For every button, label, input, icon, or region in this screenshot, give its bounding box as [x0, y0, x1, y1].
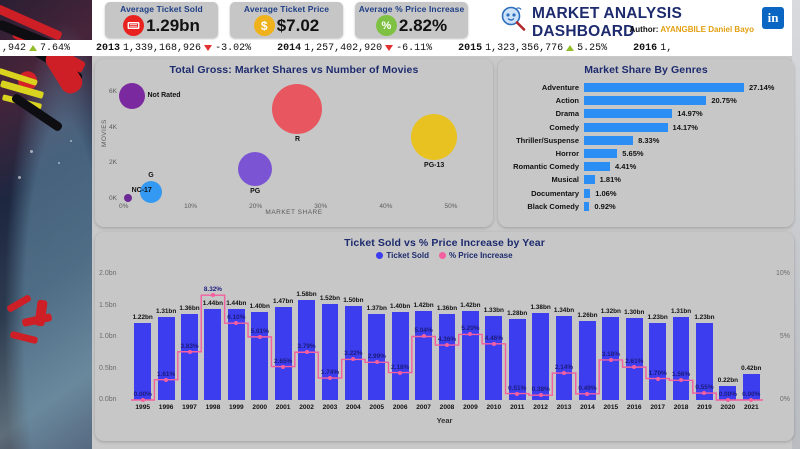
kpi-title: Average % Price Increase — [355, 4, 468, 14]
year-bar-value-label: 1.22bn — [133, 314, 153, 321]
kpi-title: Average Ticket Sold — [105, 4, 218, 14]
ticker-value: 1, — [660, 43, 672, 54]
ticker-value: 1,257,402,920 — [304, 43, 382, 54]
price-increase-value-label: 8.32% — [204, 286, 222, 293]
genre-bar[interactable] — [584, 136, 633, 145]
price-increase-point[interactable] — [492, 342, 496, 346]
genre-label: Comedy — [498, 123, 584, 132]
genre-row[interactable]: Horror5.65% — [498, 147, 794, 160]
panel-market-share-by-genres: Market Share By Genres Adventure27.14%Ac… — [498, 59, 794, 227]
price-increase-point[interactable] — [281, 365, 285, 369]
ticker-year: 2015 — [458, 43, 482, 54]
year-bar[interactable] — [649, 323, 666, 400]
ticker-item: ,9427.64% — [2, 43, 70, 54]
price-increase-value-label: 0.55% — [695, 384, 713, 391]
year-x-tick: 2006 — [393, 404, 408, 411]
ticker-change: 5.25% — [577, 43, 607, 54]
genre-value: 4.41% — [610, 162, 636, 171]
year-x-tick: 1998 — [206, 404, 221, 411]
bubble-point[interactable] — [411, 114, 457, 160]
genre-value: 5.65% — [617, 149, 643, 158]
year-x-tick: 2007 — [416, 404, 431, 411]
genre-row[interactable]: Drama14.97% — [498, 107, 794, 120]
year-chart-plot-area[interactable]: 0.0bn0.5bn1.0bn1.5bn2.0bn0%5%10%1.22bn19… — [95, 232, 794, 441]
price-increase-value-label: 3.18% — [602, 351, 620, 358]
page-title: MARKET ANALYSIS DASHBOARD — [532, 5, 788, 41]
genre-row[interactable]: Documentary1.06% — [498, 187, 794, 200]
price-increase-point[interactable] — [468, 332, 472, 336]
genre-value: 14.17% — [668, 123, 698, 132]
price-increase-point[interactable] — [305, 350, 309, 354]
year-bar-value-label: 1.40bn — [250, 303, 270, 310]
genre-bar[interactable] — [584, 149, 617, 158]
year-bar-value-label: 1.31bn — [671, 308, 691, 315]
trend-up-icon — [566, 45, 574, 51]
bubble-point[interactable] — [272, 84, 322, 134]
bubble-x-tick: 20% — [249, 203, 262, 210]
kpi-card-average-percent-price-increase[interactable]: Average % Price Increase % 2.82% — [355, 2, 468, 38]
year-bar[interactable] — [275, 307, 292, 400]
year-bar-value-label: 1.26bn — [577, 312, 597, 319]
year-x-tick: 2005 — [369, 404, 384, 411]
ticker-value: 1,323,356,776 — [485, 43, 563, 54]
year-y-tick-right: 0% — [780, 396, 790, 403]
year-bar-value-label: 1.44bn — [203, 300, 223, 307]
year-bar-value-label: 1.37bn — [367, 305, 387, 312]
price-increase-value-label: 3.22% — [344, 350, 362, 357]
bubble-x-tick: 0% — [119, 203, 128, 210]
year-x-tick: 2017 — [650, 404, 665, 411]
genre-value: 20.75% — [706, 96, 736, 105]
year-bar[interactable] — [556, 316, 573, 400]
price-increase-value-label: 0.00% — [134, 391, 152, 398]
price-increase-value-label: 0.49% — [578, 385, 596, 392]
year-x-tick: 2009 — [463, 404, 478, 411]
price-increase-value-label: 4.46% — [485, 335, 503, 342]
genre-label: Adventure — [498, 83, 584, 92]
price-increase-value-label: 0.00% — [742, 391, 760, 398]
genre-value: 1.06% — [590, 189, 616, 198]
bubble-y-tick: 0K — [109, 195, 117, 202]
ticker-item: 20141,257,402,920-6.11% — [277, 43, 432, 54]
year-bar-value-label: 1.42bn — [413, 302, 433, 309]
price-increase-point[interactable] — [515, 392, 519, 396]
kpi-card-average-ticket-price[interactable]: Average Ticket Price $ $7.02 — [230, 2, 343, 38]
year-x-tick: 1995 — [135, 404, 150, 411]
price-increase-point[interactable] — [375, 360, 379, 364]
year-bar-value-label: 1.36bn — [437, 305, 457, 312]
price-increase-point[interactable] — [351, 357, 355, 361]
author-credit: Author: AYANGBILE Daniel Bayo — [630, 25, 755, 34]
price-increase-value-label: 1.61% — [157, 371, 175, 378]
kpi-value: $7.02 — [277, 17, 320, 34]
year-x-tick: 2018 — [674, 404, 689, 411]
ticker-change: -3.02% — [215, 43, 251, 54]
year-x-tick: 2019 — [697, 404, 712, 411]
price-increase-point[interactable] — [422, 334, 426, 338]
year-bar[interactable] — [251, 312, 268, 400]
price-increase-point[interactable] — [585, 392, 589, 396]
price-increase-value-label: 2.61% — [625, 358, 643, 365]
genre-row[interactable]: Adventure27.14% — [498, 81, 794, 94]
ticker-change: -6.11% — [396, 43, 432, 54]
bubble-y-axis-title: MOVIES — [101, 119, 108, 147]
price-increase-value-label: 1.70% — [649, 370, 667, 377]
ticker-year: 2016 — [633, 43, 657, 54]
year-y-tick-left: 2.0bn — [99, 270, 117, 277]
ticker-item: 20131,339,168,926-3.02% — [96, 43, 251, 54]
year-bar-value-label: 0.42bn — [741, 365, 761, 372]
year-x-tick: 2000 — [252, 404, 267, 411]
bubble-x-tick: 40% — [379, 203, 392, 210]
price-increase-value-label: 2.65% — [274, 358, 292, 365]
year-bar-value-label: 1.33bn — [484, 307, 504, 314]
year-bar[interactable] — [204, 309, 221, 400]
author-label: Author: — [630, 25, 659, 34]
genre-bar-list[interactable]: Adventure27.14%Action20.75%Drama14.97%Co… — [498, 81, 794, 213]
genre-value: 0.92% — [589, 202, 615, 211]
genre-label: Romantic Comedy — [498, 162, 584, 171]
year-bar[interactable] — [181, 314, 198, 400]
bubble-x-tick: 50% — [444, 203, 457, 210]
ticker-year: 2013 — [96, 43, 120, 54]
year-x-tick: 2012 — [533, 404, 548, 411]
price-increase-point[interactable] — [188, 350, 192, 354]
year-x-tick: 2015 — [604, 404, 619, 411]
genre-row[interactable]: Musical1.81% — [498, 173, 794, 186]
price-increase-value-label: 1.56% — [672, 371, 690, 378]
year-bar-value-label: 1.23bn — [694, 314, 714, 321]
price-increase-value-label: 0.51% — [508, 385, 526, 392]
genre-label: Musical — [498, 175, 584, 184]
year-bar[interactable] — [462, 311, 479, 400]
bubble-point[interactable] — [238, 152, 272, 186]
price-increase-point[interactable] — [164, 378, 168, 382]
price-increase-point[interactable] — [702, 391, 706, 395]
price-increase-point[interactable] — [328, 376, 332, 380]
year-x-tick: 2021 — [744, 404, 759, 411]
genre-bar[interactable] — [584, 162, 610, 171]
price-increase-value-label: 0.38% — [532, 386, 550, 393]
year-bar-value-label: 1.34bn — [554, 307, 574, 314]
genre-label: Drama — [498, 109, 584, 118]
year-bar-value-label: 1.50bn — [343, 297, 363, 304]
year-x-tick: 2010 — [486, 404, 501, 411]
trend-down-icon — [385, 45, 393, 51]
magnifier-icon-svg — [500, 5, 526, 31]
genre-bar[interactable] — [584, 83, 744, 92]
year-bar-value-label: 1.42bn — [460, 302, 480, 309]
price-increase-point[interactable] — [609, 358, 613, 362]
genre-bar[interactable] — [584, 109, 672, 118]
genre-label: Documentary — [498, 189, 584, 198]
year-x-tick: 1999 — [229, 404, 244, 411]
genre-value: 1.81% — [595, 175, 621, 184]
bubble-point-label: G — [148, 172, 153, 179]
bubble-point-label: NC-17 — [132, 187, 152, 194]
year-bar[interactable] — [158, 317, 175, 400]
trend-up-icon — [29, 45, 37, 51]
year-bar-value-label: 1.32bn — [601, 308, 621, 315]
author-name: AYANGBILE Daniel Bayo — [660, 25, 754, 34]
price-increase-value-label: 6.10% — [227, 314, 245, 321]
year-bar-value-label: 1.58bn — [296, 291, 316, 298]
genre-row[interactable]: Romantic Comedy4.41% — [498, 160, 794, 173]
year-bar-value-label: 1.36bn — [179, 305, 199, 312]
year-x-tick: 1996 — [159, 404, 174, 411]
ticker-year: 2014 — [277, 43, 301, 54]
year-bar-value-label: 1.28bn — [507, 310, 527, 317]
price-increase-point[interactable] — [141, 398, 145, 402]
price-increase-value-label: 4.36% — [438, 336, 456, 343]
year-bar-value-label: 1.30bn — [624, 309, 644, 316]
genre-bar[interactable] — [584, 96, 706, 105]
year-bar-value-label: 1.47bn — [273, 298, 293, 305]
linkedin-icon[interactable]: in — [762, 7, 784, 29]
genre-bar[interactable] — [584, 175, 595, 184]
year-bar-value-label: 1.44bn — [226, 300, 246, 307]
price-increase-value-label: 5.20% — [461, 325, 479, 332]
year-y-tick-right: 5% — [780, 333, 790, 340]
year-y-tick-left: 1.5bn — [99, 302, 117, 309]
price-increase-point[interactable] — [726, 398, 730, 402]
kpi-card-average-ticket-sold[interactable]: Average Ticket Sold 1.29bn — [105, 2, 218, 38]
bubble-point-label: PG — [250, 188, 260, 195]
bubble-point[interactable] — [124, 194, 132, 202]
year-x-tick: 2003 — [323, 404, 338, 411]
genre-label: Thriller/Suspense — [498, 136, 584, 145]
price-increase-value-label: 3.79% — [297, 343, 315, 350]
price-increase-point[interactable] — [258, 335, 262, 339]
price-increase-value-label: 2.18% — [391, 364, 409, 371]
ticker-value: 1,339,168,926 — [123, 43, 201, 54]
header-band: Average Ticket Sold 1.29bn Average Ticke… — [92, 0, 792, 40]
genre-row[interactable]: Action20.75% — [498, 94, 794, 107]
year-bar-value-label: 1.40bn — [390, 303, 410, 310]
kpi-title: Average Ticket Price — [230, 4, 343, 14]
year-y-tick-left: 0.0bn — [99, 396, 117, 403]
panel-ticket-sold-vs-price-increase: Ticket Sold vs % Price Increase by Year … — [95, 232, 794, 441]
year-x-tick: 2001 — [276, 404, 291, 411]
trend-down-icon — [204, 45, 212, 51]
year-x-tick: 2004 — [346, 404, 361, 411]
price-increase-point[interactable] — [679, 378, 683, 382]
year-bar[interactable] — [485, 316, 502, 400]
price-increase-point[interactable] — [234, 321, 238, 325]
ticker-value: ,942 — [2, 43, 26, 54]
genre-label: Action — [498, 96, 584, 105]
bubble-x-tick: 10% — [184, 203, 197, 210]
yearly-ticker-strip: ,9427.64%20131,339,168,926-3.02%20141,25… — [0, 40, 792, 56]
dollar-icon: $ — [254, 15, 275, 36]
price-increase-point[interactable] — [656, 377, 660, 381]
price-increase-value-label: 2.14% — [555, 364, 573, 371]
year-x-tick: 2013 — [557, 404, 572, 411]
genre-label: Horror — [498, 149, 584, 158]
price-increase-point[interactable] — [445, 343, 449, 347]
price-increase-value-label: 0.00% — [719, 391, 737, 398]
price-increase-value-label: 3.83% — [180, 343, 198, 350]
genre-row[interactable]: Thriller/Suspense8.33% — [498, 134, 794, 147]
price-increase-point[interactable] — [211, 293, 215, 297]
genre-label: Black Comedy — [498, 202, 584, 211]
genre-row[interactable]: Comedy14.17% — [498, 121, 794, 134]
price-increase-value-label: 1.74% — [321, 369, 339, 376]
bubble-point-label: PG-13 — [424, 162, 444, 169]
year-y-tick-left: 0.5bn — [99, 365, 117, 372]
kpi-value: 1.29bn — [146, 17, 200, 34]
percent-icon: % — [376, 15, 397, 36]
price-increase-value-label: 2.99% — [368, 353, 386, 360]
year-bar[interactable] — [392, 312, 409, 400]
genre-value: 8.33% — [633, 136, 659, 145]
magnifier-icon — [500, 5, 526, 31]
year-bar[interactable] — [673, 317, 690, 400]
year-x-axis-title: Year — [95, 416, 794, 425]
year-x-tick: 2016 — [627, 404, 642, 411]
price-increase-value-label: 5.01% — [251, 328, 269, 335]
panel-total-gross-market-shares: Total Gross: Market Shares vs Number of … — [95, 59, 493, 227]
genre-value: 27.14% — [744, 83, 774, 92]
ticket-icon — [123, 15, 144, 36]
year-y-tick-left: 1.0bn — [99, 333, 117, 340]
kpi-value: 2.82% — [399, 17, 447, 34]
year-bar-value-label: 1.31bn — [156, 308, 176, 315]
price-increase-value-label: 5.04% — [415, 327, 433, 334]
bubble-point[interactable] — [119, 83, 145, 109]
ticker-item: 20161, — [633, 43, 672, 54]
bubble-y-tick: 2K — [109, 159, 117, 166]
year-bar[interactable] — [439, 314, 456, 400]
bubble-y-tick: 6K — [109, 88, 117, 95]
ticket-icon-svg — [127, 21, 140, 30]
bubble-point-label: Not Rated — [148, 92, 181, 99]
year-x-tick: 2002 — [299, 404, 314, 411]
price-increase-point[interactable] — [398, 371, 402, 375]
year-bar-value-label: 1.38bn — [531, 304, 551, 311]
dashboard-title-block: MARKET ANALYSIS DASHBOARD Author: AYANGB… — [488, 2, 788, 38]
year-bar[interactable] — [322, 304, 339, 400]
genre-bar[interactable] — [584, 123, 668, 132]
year-bar[interactable] — [415, 311, 432, 400]
bubble-y-tick: 4K — [109, 124, 117, 131]
year-bar[interactable] — [134, 323, 151, 400]
price-increase-point[interactable] — [539, 393, 543, 397]
year-x-tick: 2014 — [580, 404, 595, 411]
year-bar-value-label: 0.22bn — [718, 377, 738, 384]
year-x-tick: 2011 — [510, 404, 524, 411]
background-movie-poster-image — [0, 0, 92, 449]
year-bar-value-label: 1.23bn — [648, 314, 668, 321]
bubble-chart-plot-area[interactable]: MOVIES MARKET SHARE 0K2K4K6K0%10%20%30%4… — [95, 59, 493, 227]
bubble-point-label: R — [295, 136, 300, 143]
genre-chart-title: Market Share By Genres — [498, 59, 794, 76]
genre-row[interactable]: Black Comedy0.92% — [498, 200, 794, 213]
price-increase-point[interactable] — [749, 398, 753, 402]
year-x-tick: 2008 — [440, 404, 455, 411]
year-x-tick: 2020 — [721, 404, 736, 411]
year-bar-value-label: 1.52bn — [320, 295, 340, 302]
year-y-tick-right: 10% — [776, 270, 790, 277]
ticker-item: 20151,323,356,7765.25% — [458, 43, 607, 54]
genre-value: 14.97% — [672, 109, 702, 118]
price-increase-point[interactable] — [632, 365, 636, 369]
price-increase-point[interactable] — [562, 371, 566, 375]
bubble-x-axis-title: MARKET SHARE — [95, 209, 493, 216]
year-x-tick: 1997 — [182, 404, 197, 411]
bubble-x-tick: 30% — [314, 203, 327, 210]
ticker-change: 7.64% — [40, 43, 70, 54]
